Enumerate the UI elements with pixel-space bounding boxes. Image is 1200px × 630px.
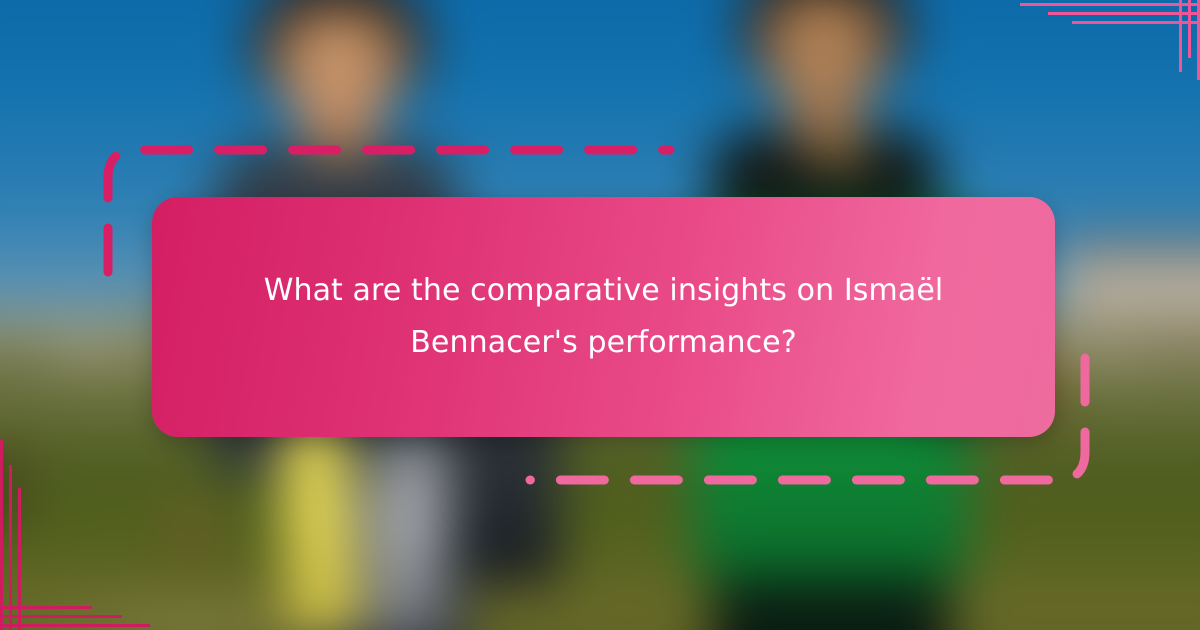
right-subject-eye-left [777,41,803,55]
question-text: What are the comparative insights on Ism… [210,265,997,368]
background-person-left [164,495,217,570]
question-card: What are the comparative insights on Ism… [152,197,1055,437]
right-subject-eye-right [840,41,866,55]
left-subject-eye-right [353,56,379,70]
og-image-canvas: What are the comparative insights on Ism… [0,0,1200,630]
left-subject-eye-left [291,56,317,70]
left-subject-grey-bib [370,433,447,630]
